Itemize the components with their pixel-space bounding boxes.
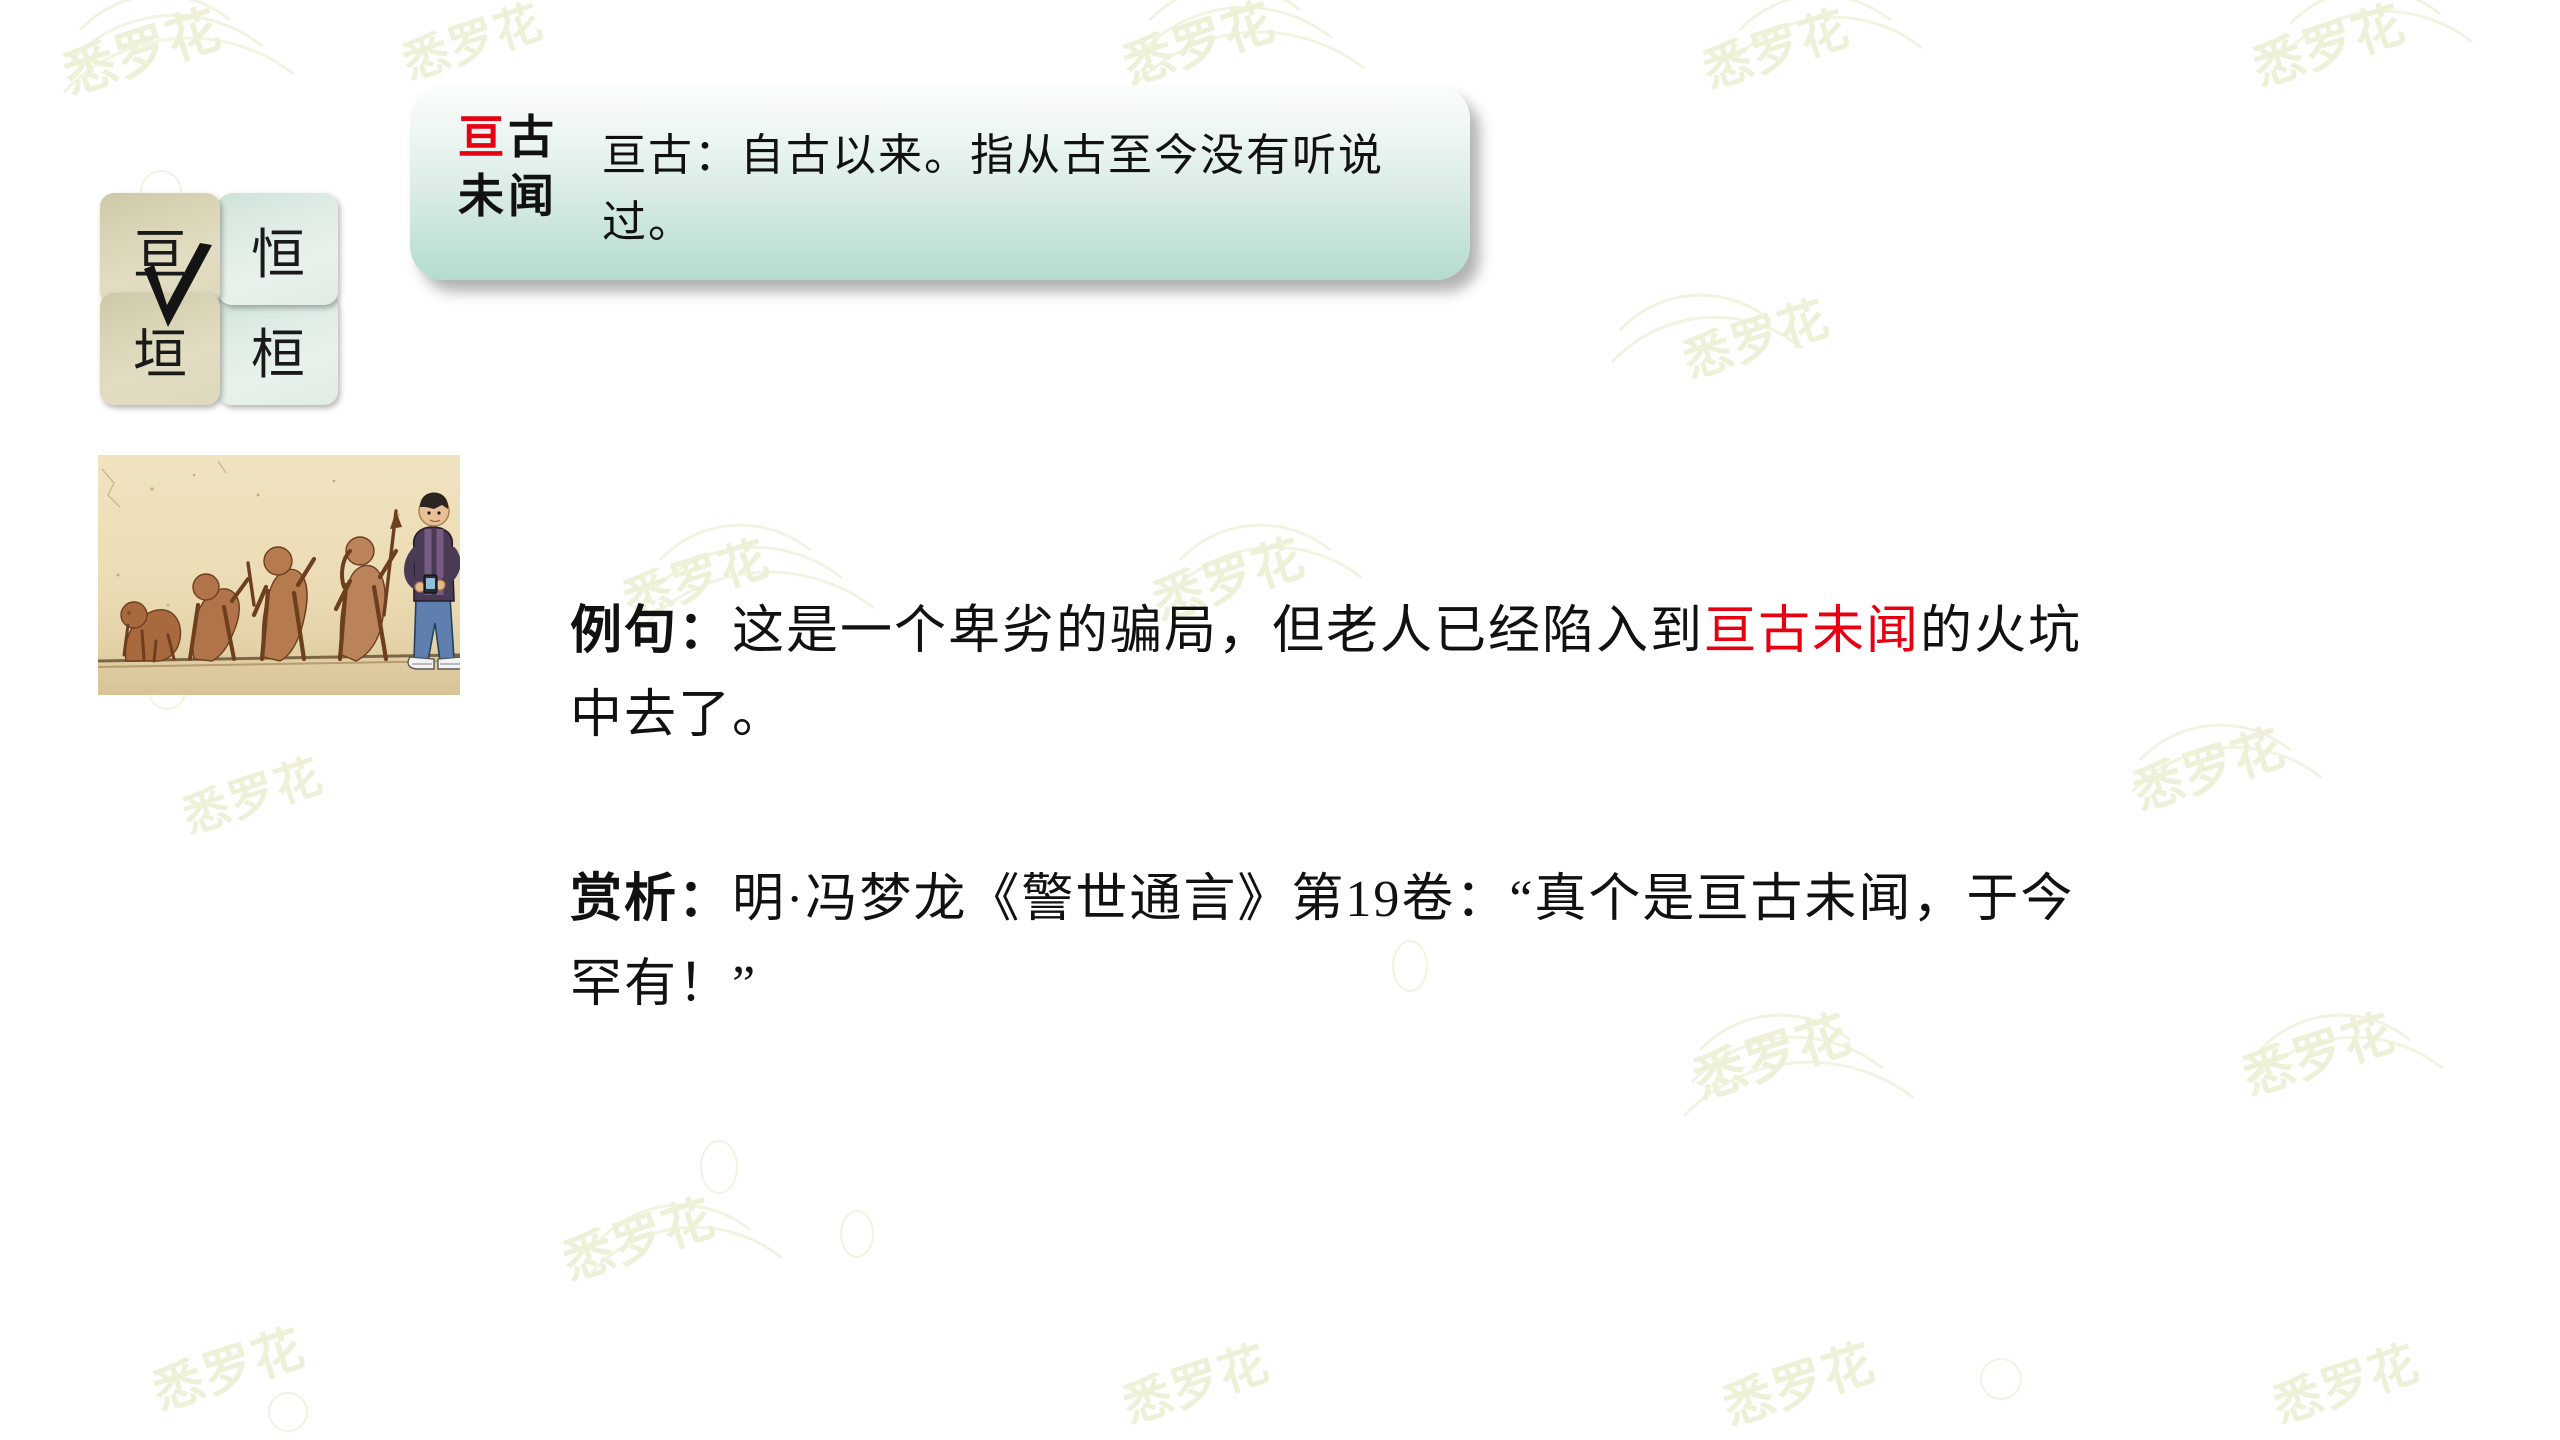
character-tile-label: 垣 [133,310,187,389]
watermark-text: 悉罗花 [2123,708,2294,825]
watermark-ring [1980,1358,2022,1400]
character-tile-3[interactable]: 桓 [218,293,338,405]
watermark-text: 悉罗花 [2233,993,2404,1110]
human-evolution-cartoon [98,455,460,695]
example-paragraph: 例句：这是一个卑劣的骗局，但老人已经陷入到亘古未闻的火坑中去了。 [570,590,2090,758]
watermark-text: 悉罗花 [1713,1323,1884,1440]
character-tile-1[interactable]: 恒 [218,193,338,305]
definition-card: 亘古未闻 亘古：自古以来。指从古至今没有听说过。 [410,85,1470,280]
watermark-ring [268,1392,308,1432]
watermark-text: 悉罗花 [2243,0,2414,100]
watermark-text: 悉罗花 [173,739,330,846]
analysis-paragraph: 赏析：明·冯梦龙《警世通言》第19卷：“真个是亘古未闻，于今罕有！” [570,858,2090,1026]
watermark-text: 悉罗花 [52,0,229,108]
example-label: 例句： [570,603,732,660]
idiom-title-highlight: 亘 [458,112,508,163]
watermark-text: 悉罗花 [553,1178,724,1295]
analysis-label: 赏析： [570,871,732,928]
example-highlight: 亘古未闻 [1704,603,1920,660]
watermark-text: 悉罗花 [1673,279,1837,392]
watermark-text: 悉罗花 [1693,0,1857,101]
character-tile-label: 亘 [133,210,187,289]
character-tile-label: 恒 [251,210,305,289]
watermark-text: 悉罗花 [143,1308,314,1425]
idiom-title: 亘古未闻 [410,85,558,280]
analysis-text: 明·冯梦龙《警世通言》第19卷：“真个是亘古未闻，于今罕有！” [570,871,2074,1012]
watermark-ring [840,1210,874,1258]
character-tile-label: 桓 [251,310,305,389]
watermark-text: 悉罗花 [1113,1324,1277,1437]
watermark-text: 悉罗花 [2263,1324,2427,1437]
idiom-definition: 亘古：自古以来。指从古至今没有听说过。 [558,85,1470,280]
body-text-block: 例句：这是一个卑劣的骗局，但老人已经陷入到亘古未闻的火坑中去了。 赏析：明·冯梦… [570,590,2090,1027]
watermark-ring [700,1140,738,1194]
watermark-text: 悉罗花 [393,0,550,93]
example-text-before: 这是一个卑劣的骗局，但老人已经陷入到 [732,603,1704,660]
slide-stage: 悉罗花 悉罗花 悉罗花 悉罗花 悉罗花 悉罗花 悉罗花 悉罗花 悉罗花 悉罗花 … [0,0,2560,1440]
character-tile-0[interactable]: 亘 [100,193,220,305]
watermark-text: 悉罗花 [1113,0,1284,98]
character-choice-grid[interactable]: 亘 恒 垣 桓 [100,193,328,405]
character-tile-2[interactable]: 垣 [100,293,220,405]
